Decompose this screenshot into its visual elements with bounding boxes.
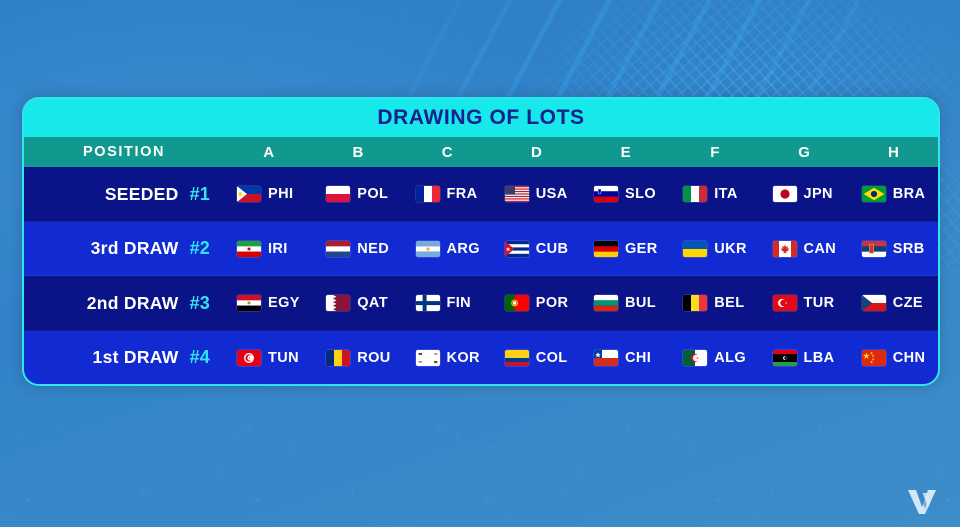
team-cell[interactable]: ITA	[670, 186, 759, 202]
flag-egypt-icon	[237, 295, 261, 311]
team-code: QAT	[357, 295, 388, 311]
team-cell[interactable]: CZE	[849, 295, 938, 311]
team-code: CUB	[536, 241, 569, 257]
team-cell[interactable]: ARG	[403, 241, 492, 257]
flag-tunisia-icon	[237, 350, 261, 366]
flag-portugal-icon	[505, 295, 529, 311]
team-code: SLO	[625, 186, 656, 202]
team-cell[interactable]: USA	[492, 186, 581, 202]
team-code: IRI	[268, 241, 288, 257]
team-cell[interactable]: SRB	[849, 241, 938, 257]
team-code: JPN	[804, 186, 833, 202]
row-label-group: 1st DRAW#4	[24, 347, 224, 368]
team-code: COL	[536, 350, 568, 366]
flag-iran-icon	[237, 241, 261, 257]
team-code: TUR	[804, 295, 835, 311]
team-cell[interactable]: PHI	[224, 186, 313, 202]
row-draw-label: 2nd DRAW	[87, 293, 179, 314]
column-header-position: POSITION	[24, 144, 224, 160]
team-cell[interactable]: CHI	[581, 350, 670, 366]
team-code: SRB	[893, 241, 925, 257]
team-code: ALG	[714, 350, 746, 366]
team-code: ARG	[447, 241, 480, 257]
team-code: POR	[536, 295, 569, 311]
flag-slovenia-icon	[594, 186, 618, 202]
team-code: UKR	[714, 241, 747, 257]
flag-china-icon	[862, 350, 886, 366]
flag-argentina-icon	[416, 241, 440, 257]
team-code: CHI	[625, 350, 651, 366]
team-code: POL	[357, 186, 388, 202]
team-code: ITA	[714, 186, 737, 202]
row-position-number: #2	[190, 238, 210, 259]
team-cell[interactable]: CAN	[760, 241, 849, 257]
row-label-group: SEEDED#1	[24, 184, 224, 205]
flag-poland-icon	[326, 186, 350, 202]
row-position-number: #3	[190, 293, 210, 314]
flag-canada-icon	[773, 241, 797, 257]
team-code: TUN	[268, 350, 299, 366]
flag-turkey-icon	[773, 295, 797, 311]
table-row: SEEDED#1 PHIPOLFRA USA SLOITAJPN BRA	[24, 167, 938, 222]
flag-france-icon	[416, 186, 440, 202]
page-title: DRAWING OF LOTS	[377, 106, 584, 130]
row-draw-label: 3rd DRAW	[91, 238, 179, 259]
team-cell[interactable]: POR	[492, 295, 581, 311]
drawing-of-lots-panel: DRAWING OF LOTS POSITION A B C D E F G H…	[22, 97, 940, 386]
table-row: 2nd DRAW#3 EGY QAT FIN PORBULBEL TUR CZE	[24, 276, 938, 331]
team-code: BEL	[714, 295, 744, 311]
team-cell[interactable]: BUL	[581, 295, 670, 311]
team-cell[interactable]: TUN	[224, 350, 313, 366]
row-position-number: #1	[190, 184, 210, 205]
column-header-c: C	[403, 144, 492, 161]
team-code: NED	[357, 241, 389, 257]
flag-bulgaria-icon	[594, 295, 618, 311]
team-cell[interactable]: COL	[492, 350, 581, 366]
team-code: BRA	[893, 186, 926, 202]
team-code: FIN	[447, 295, 472, 311]
table-row: 3rd DRAW#2 IRINED ARG CUBGERUKR CAN SRB	[24, 222, 938, 277]
fivb-v-logo-icon	[905, 487, 939, 517]
flag-ukraine-icon	[683, 241, 707, 257]
flag-serbia-icon	[862, 241, 886, 257]
flag-cuba-icon	[505, 241, 529, 257]
team-code: ROU	[357, 350, 390, 366]
flag-belgium-icon	[683, 295, 707, 311]
team-code: CHN	[893, 350, 926, 366]
flag-germany-icon	[594, 241, 618, 257]
team-cell[interactable]: LBA	[760, 350, 849, 366]
team-cell[interactable]: POL	[313, 186, 402, 202]
column-header-e: E	[581, 144, 670, 161]
row-label-group: 2nd DRAW#3	[24, 293, 224, 314]
team-cell[interactable]: CUB	[492, 241, 581, 257]
team-cell[interactable]: EGY	[224, 295, 313, 311]
row-label-group: 3rd DRAW#2	[24, 238, 224, 259]
team-code: USA	[536, 186, 568, 202]
flag-philippines-icon	[237, 186, 261, 202]
flag-japan-icon	[773, 186, 797, 202]
flag-finland-icon	[416, 295, 440, 311]
team-code: CAN	[804, 241, 837, 257]
flag-colombia-icon	[505, 350, 529, 366]
team-cell[interactable]: KOR	[403, 350, 492, 366]
team-cell[interactable]: NED	[313, 241, 402, 257]
team-cell[interactable]: IRI	[224, 241, 313, 257]
flag-algeria-icon	[683, 350, 707, 366]
flag-chile-icon	[594, 350, 618, 366]
team-cell[interactable]: BRA	[849, 186, 938, 202]
team-code: GER	[625, 241, 658, 257]
team-code: PHI	[268, 186, 293, 202]
team-cell[interactable]: QAT	[313, 295, 402, 311]
panel-title-bar: DRAWING OF LOTS	[24, 99, 938, 137]
team-cell[interactable]: UKR	[670, 241, 759, 257]
flag-italy-icon	[683, 186, 707, 202]
team-cell[interactable]: JPN	[760, 186, 849, 202]
column-header-f: F	[670, 144, 759, 161]
team-cell[interactable]: CHN	[849, 350, 938, 366]
row-position-number: #4	[190, 347, 210, 368]
flag-brazil-icon	[862, 186, 886, 202]
column-header-a: A	[224, 144, 313, 161]
flag-czechia-icon	[862, 295, 886, 311]
team-cell[interactable]: ALG	[670, 350, 759, 366]
team-code: LBA	[804, 350, 835, 366]
flag-romania-icon	[326, 350, 350, 366]
flag-usa-icon	[505, 186, 529, 202]
column-header-g: G	[760, 144, 849, 161]
team-code: EGY	[268, 295, 300, 311]
row-draw-label: 1st DRAW	[93, 347, 179, 368]
table-header-row: POSITION A B C D E F G H	[24, 137, 938, 167]
column-header-d: D	[492, 144, 581, 161]
team-cell[interactable]: FIN	[403, 295, 492, 311]
flag-south-korea-icon	[416, 350, 440, 366]
team-cell[interactable]: BEL	[670, 295, 759, 311]
flag-qatar-icon	[326, 295, 350, 311]
team-code: CZE	[893, 295, 923, 311]
team-cell[interactable]: ROU	[313, 350, 402, 366]
team-code: KOR	[447, 350, 480, 366]
team-cell[interactable]: FRA	[403, 186, 492, 202]
flag-netherlands-icon	[326, 241, 350, 257]
column-header-b: B	[313, 144, 402, 161]
team-cell[interactable]: GER	[581, 241, 670, 257]
team-cell[interactable]: SLO	[581, 186, 670, 202]
team-code: FRA	[447, 186, 478, 202]
team-cell[interactable]: TUR	[760, 295, 849, 311]
flag-libya-icon	[773, 350, 797, 366]
team-code: BUL	[625, 295, 656, 311]
table-body: SEEDED#1 PHIPOLFRA USA SLOITAJPN BRA3rd …	[24, 167, 938, 386]
table-row: 1st DRAW#4 TUNROU KORCOL	[24, 331, 938, 386]
row-draw-label: SEEDED	[105, 184, 179, 205]
column-header-h: H	[849, 144, 938, 161]
